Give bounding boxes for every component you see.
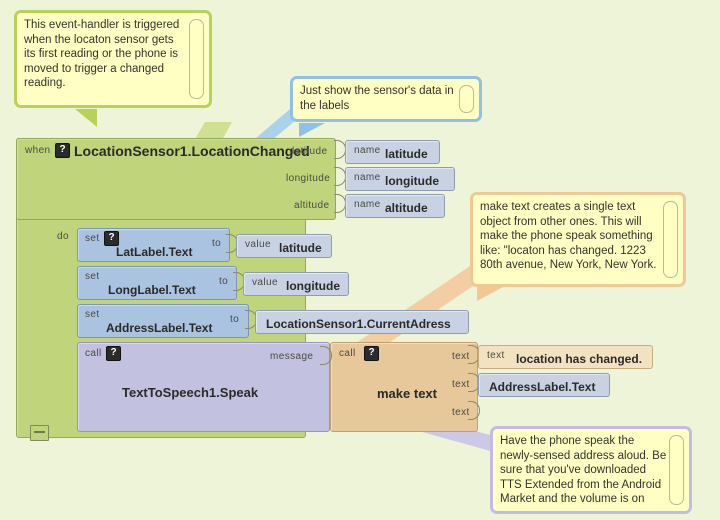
collapse-minus-icon[interactable] — [30, 425, 49, 441]
set-label: set — [85, 271, 100, 282]
comment-text: Just show the sensor's data in the label… — [300, 85, 454, 112]
param-socket-label-longitude: longitude — [286, 173, 330, 184]
value-block-latitude[interactable]: value latitude — [236, 234, 332, 258]
value-label: value — [252, 277, 278, 288]
param-name-value: latitude — [385, 147, 428, 161]
value-label: value — [245, 239, 271, 250]
getter-block-addresslabel-text[interactable]: AddressLabel.Text — [478, 373, 610, 397]
param-socket-altitude[interactable] — [334, 194, 345, 211]
call-label: call — [339, 348, 356, 359]
comment-event-handler[interactable]: This event-handler is triggered when the… — [14, 10, 212, 108]
to-label: to — [212, 238, 221, 249]
event-block-title: LocationSensor1.LocationChanged — [74, 143, 310, 159]
value-text: latitude — [279, 241, 322, 255]
set-label: set — [85, 233, 100, 244]
param-name-block-altitude[interactable]: name altitude — [345, 194, 445, 218]
blocks-canvas[interactable]: This event-handler is triggered when the… — [0, 0, 720, 520]
text-literal-value: location has changed. — [516, 352, 642, 366]
when-label: when — [25, 145, 51, 156]
value-text: LocationSensor1.CurrentAdress — [266, 317, 451, 331]
set-block-latlabel[interactable]: set LatLabel.Text to — [77, 228, 230, 262]
comment-tail — [477, 287, 503, 301]
set-target: AddressLabel.Text — [106, 321, 212, 335]
set-target: LatLabel.Text — [116, 245, 192, 259]
param-name-value: longitude — [385, 174, 439, 188]
call-block-title: TextToSpeech1.Speak — [122, 385, 258, 400]
comment-text: Have the phone speak the newly-sensed ad… — [500, 435, 666, 505]
set-block-addresslabel[interactable]: set AddressLabel.Text to — [77, 304, 249, 338]
do-label: do — [57, 231, 69, 242]
comment-make-text[interactable]: make text creates a single text object f… — [470, 192, 686, 287]
value-text: longitude — [286, 279, 340, 293]
param-name-block-latitude[interactable]: name latitude — [345, 140, 440, 164]
to-label: to — [219, 276, 228, 287]
to-label: to — [230, 314, 239, 325]
comment-tail — [299, 123, 325, 137]
getter-value: AddressLabel.Text — [489, 380, 595, 394]
help-question-icon[interactable] — [104, 231, 119, 246]
set-target: LongLabel.Text — [108, 283, 196, 297]
text-literal-block[interactable]: text location has changed. — [478, 345, 653, 369]
param-socket-label-latitude: latitude — [292, 146, 327, 157]
comment-sensor-data[interactable]: Just show the sensor's data in the label… — [290, 76, 482, 122]
make-text-title: make text — [377, 386, 437, 401]
param-socket-label-altitude: altitude — [294, 200, 329, 211]
set-label: set — [85, 309, 100, 320]
text-kind-label: text — [487, 350, 505, 361]
param-name-value: altitude — [385, 201, 428, 215]
comment-scrollbar[interactable] — [459, 85, 474, 113]
message-label: message — [270, 351, 313, 362]
comment-text: This event-handler is triggered when the… — [24, 19, 179, 89]
comment-scrollbar[interactable] — [669, 435, 684, 505]
value-block-currentaddress[interactable]: LocationSensor1.CurrentAdress — [255, 310, 469, 334]
comment-tail — [75, 109, 97, 127]
value-block-longitude[interactable]: value longitude — [243, 272, 349, 296]
name-label: name — [354, 145, 381, 156]
make-text-socket-3[interactable] — [468, 401, 479, 418]
comment-scrollbar[interactable] — [189, 19, 204, 99]
name-label: name — [354, 199, 381, 210]
comment-text: make text creates a single text object f… — [480, 201, 656, 271]
message-socket[interactable] — [320, 346, 331, 363]
param-name-block-longitude[interactable]: name longitude — [345, 167, 455, 191]
comment-tts[interactable]: Have the phone speak the newly-sensed ad… — [490, 426, 692, 514]
name-label: name — [354, 172, 381, 183]
help-question-icon[interactable] — [364, 346, 379, 361]
help-question-icon[interactable] — [106, 346, 121, 361]
comment-scrollbar[interactable] — [663, 201, 678, 278]
make-text-block[interactable]: call make text text text text — [330, 342, 478, 432]
help-question-icon[interactable] — [55, 143, 70, 158]
call-label: call — [85, 348, 102, 359]
param-socket-latitude[interactable] — [334, 140, 345, 157]
param-socket-longitude[interactable] — [334, 167, 345, 184]
set-block-longlabel[interactable]: set LongLabel.Text to — [77, 266, 237, 300]
